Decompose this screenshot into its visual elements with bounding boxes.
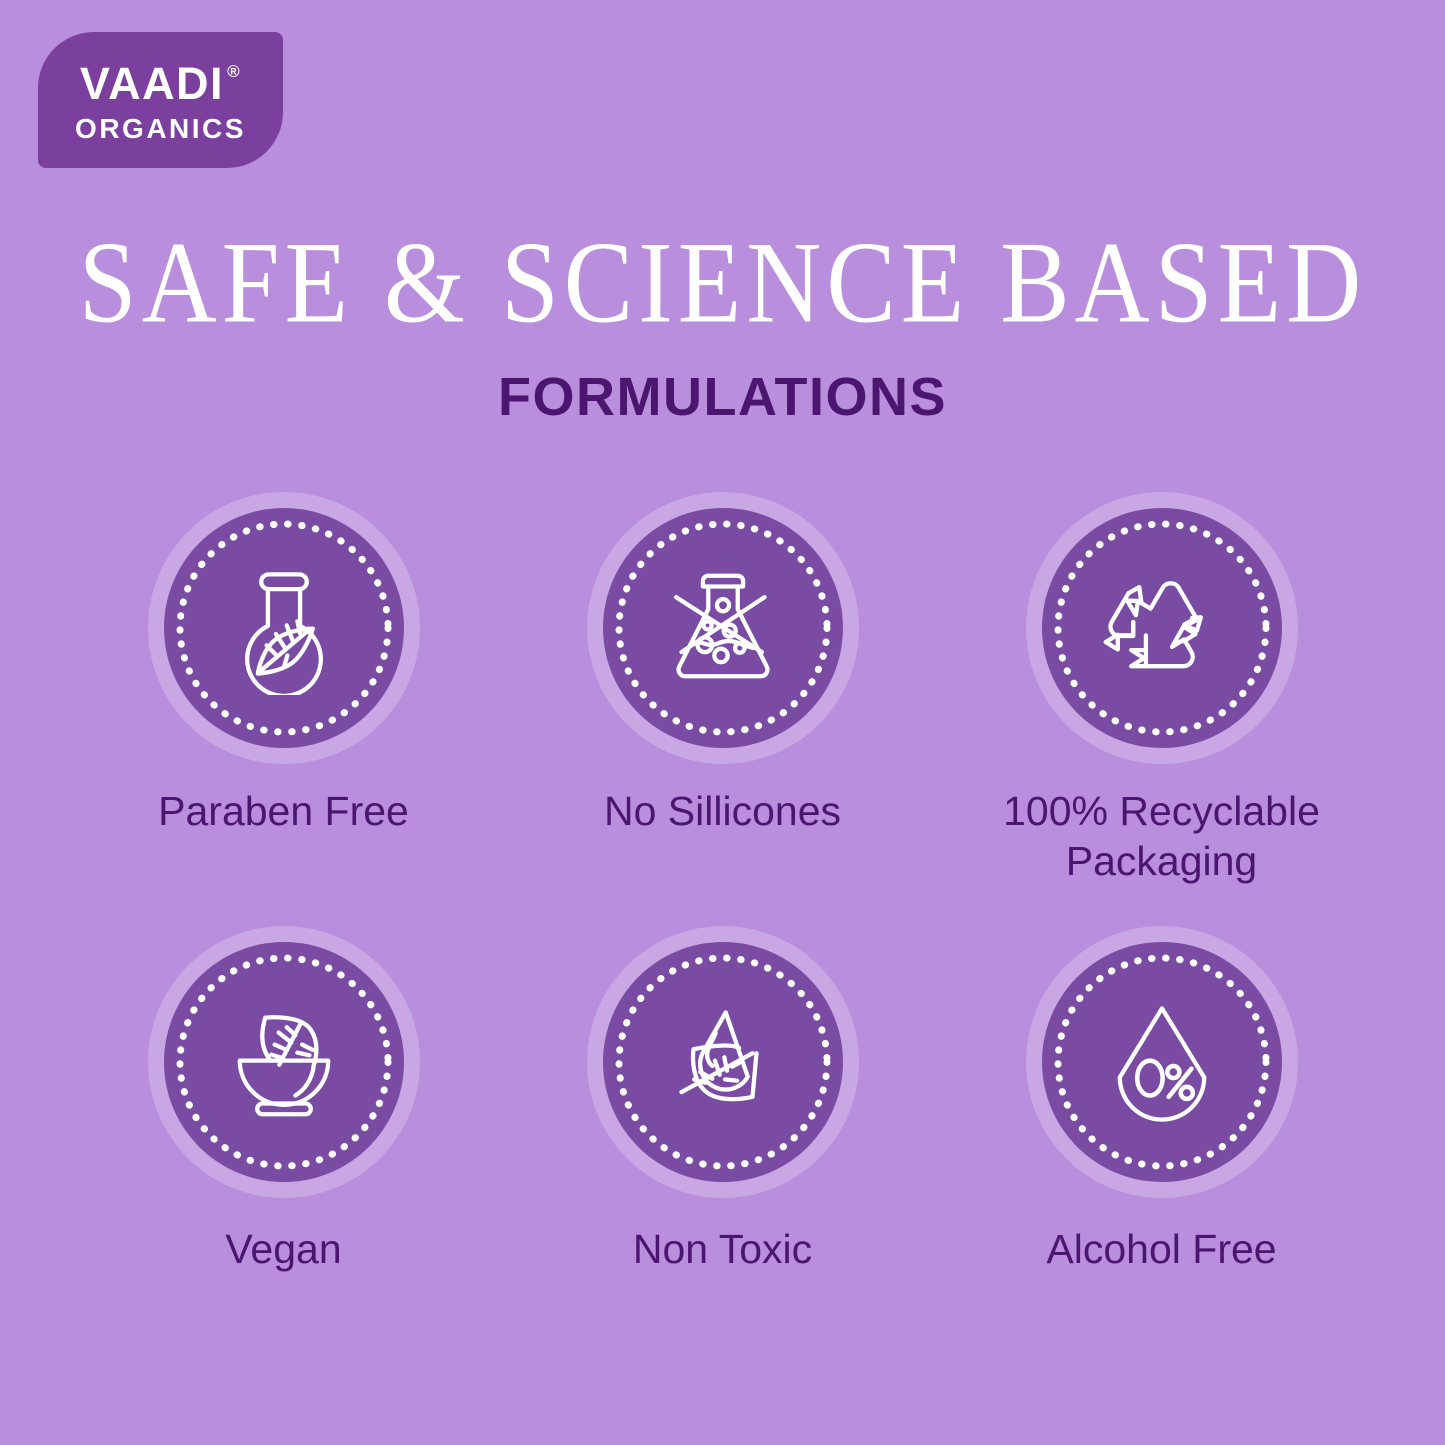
droplet-zero-percent-icon [1095,995,1229,1129]
feature-badge-inner [164,942,404,1182]
feature-label: 100% Recyclable Packaging [962,786,1362,886]
registered-trademark-icon: ® [227,63,241,80]
brand-name: VAADI [80,61,224,106]
page-headline: SAFE & SCIENCE BASED [0,224,1445,343]
feature-badge [1026,926,1298,1198]
feature-grid: Paraben Free [64,492,1381,1274]
feature-badge-inner [603,942,843,1182]
feature-item-no-sillicones: No Sillicones [503,492,942,886]
feature-badge [1026,492,1298,764]
droplet-leaf-icon [656,995,790,1129]
feature-label: Vegan [225,1224,341,1274]
page-subheadline: FORMULATIONS [0,370,1445,424]
feature-badge [587,492,859,764]
feature-label: Non Toxic [633,1224,812,1274]
flask-leaf-icon [217,561,351,695]
brand-name-row: VAADI ® [80,61,241,106]
feature-badge-inner [164,508,404,748]
feature-badge-inner [1042,942,1282,1182]
feature-badge [148,492,420,764]
brand-logo: VAADI ® ORGANICS [38,32,283,168]
feature-item-non-toxic: Non Toxic [503,926,942,1274]
feature-label: Paraben Free [158,786,409,836]
feature-item-recyclable-packaging: 100% Recyclable Packaging [942,492,1381,886]
feature-badge [587,926,859,1198]
feature-item-vegan: Vegan [64,926,503,1274]
feature-label: Alcohol Free [1046,1224,1276,1274]
brand-tagline: ORGANICS [75,115,246,143]
mortar-bowl-leaf-icon [217,995,351,1129]
feature-badge-inner [1042,508,1282,748]
recycle-icon [1095,561,1229,695]
feature-item-paraben-free: Paraben Free [64,492,503,886]
feature-item-alcohol-free: Alcohol Free [942,926,1381,1274]
feature-badge [148,926,420,1198]
feature-label: No Sillicones [604,786,841,836]
feature-badge-inner [603,508,843,748]
flask-crossed-out-icon [656,561,790,695]
